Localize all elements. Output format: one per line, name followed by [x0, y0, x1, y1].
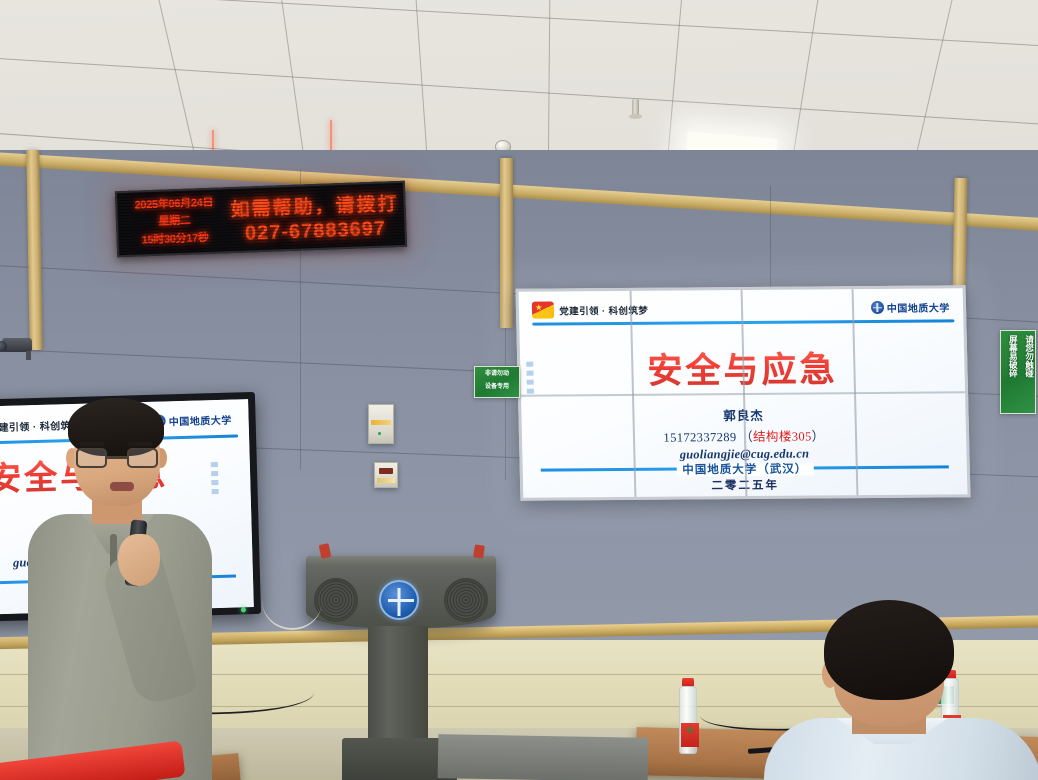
seated-attendee: [778, 600, 1038, 780]
water-bottle-left: [678, 678, 698, 754]
presenter-brow-right: [128, 442, 152, 446]
warning-column-1: 请您勿触碰: [1024, 335, 1033, 378]
room-paren-open: （: [740, 430, 753, 444]
wall-control-panel-lower[interactable]: [374, 462, 398, 488]
led-message-block: 如需帮助，请拨打 027-67883697: [225, 188, 405, 245]
room-paren-close: ）: [812, 430, 825, 444]
podium-column: [368, 626, 428, 741]
presenter-phone: 15172337289: [663, 430, 736, 445]
wall-control-panel-upper[interactable]: [368, 404, 394, 444]
slide-top-rule: [533, 319, 955, 325]
led-datetime-block: 2025年06月24日 星期二 15时30分17秒: [117, 195, 227, 250]
warning-column-2: 屏幕易破碎: [1008, 335, 1017, 378]
bottle-label: [681, 723, 699, 747]
university-logo-text: 中国地质大学: [887, 300, 950, 315]
slide-header-banner: 党建引领 · 科创筑梦: [559, 303, 648, 318]
podium-speaker-right: [444, 578, 488, 622]
wall-notice-sign: 非请勿动 设备专用: [474, 366, 520, 398]
podium-microphone-right: [473, 544, 485, 558]
wall-notice-line-1: 非请勿动: [478, 371, 517, 378]
podium-university-emblem-icon: [379, 580, 419, 620]
sprinkler-head-icon: [632, 99, 639, 116]
attendee-hair: [824, 600, 954, 700]
bottle-body: [679, 686, 697, 754]
party-emblem-icon: [532, 302, 554, 319]
university-logo: 中国地质大学: [871, 300, 950, 316]
monitor-power-led-icon: [241, 607, 246, 612]
presenter-brow-left: [80, 442, 104, 446]
presenter-person: [22, 402, 212, 780]
presenter-room: 结构楼305: [753, 430, 812, 444]
desk-modesty-panel: [438, 734, 649, 780]
wall-beam: [500, 158, 513, 328]
video-wall[interactable]: 党建引领 · 科创筑梦 中国地质大学 安全与应急 郭良杰 15172337289…: [515, 285, 970, 500]
lecture-hall-photo: 2025年06月24日 星期二 15时30分17秒 如需帮助，请拨打 027-6…: [0, 0, 1038, 780]
led-time: 15时30分17秒: [123, 229, 227, 250]
presenter-hand: [118, 534, 160, 586]
eyeglasses-icon: [76, 448, 158, 468]
led-information-ticker: 2025年06月24日 星期二 15时30分17秒 如需帮助，请拨打 027-6…: [115, 181, 407, 258]
presenter-mouth: [110, 482, 134, 491]
university-mark-icon: [871, 301, 884, 314]
security-camera-icon: [0, 338, 34, 360]
podium-top: [306, 556, 496, 628]
screen-warning-sign-right: 请您勿触碰 屏幕易破碎: [1000, 330, 1036, 414]
wall-notice-line-2: 设备专用: [478, 384, 517, 391]
wall-beam: [26, 150, 42, 350]
